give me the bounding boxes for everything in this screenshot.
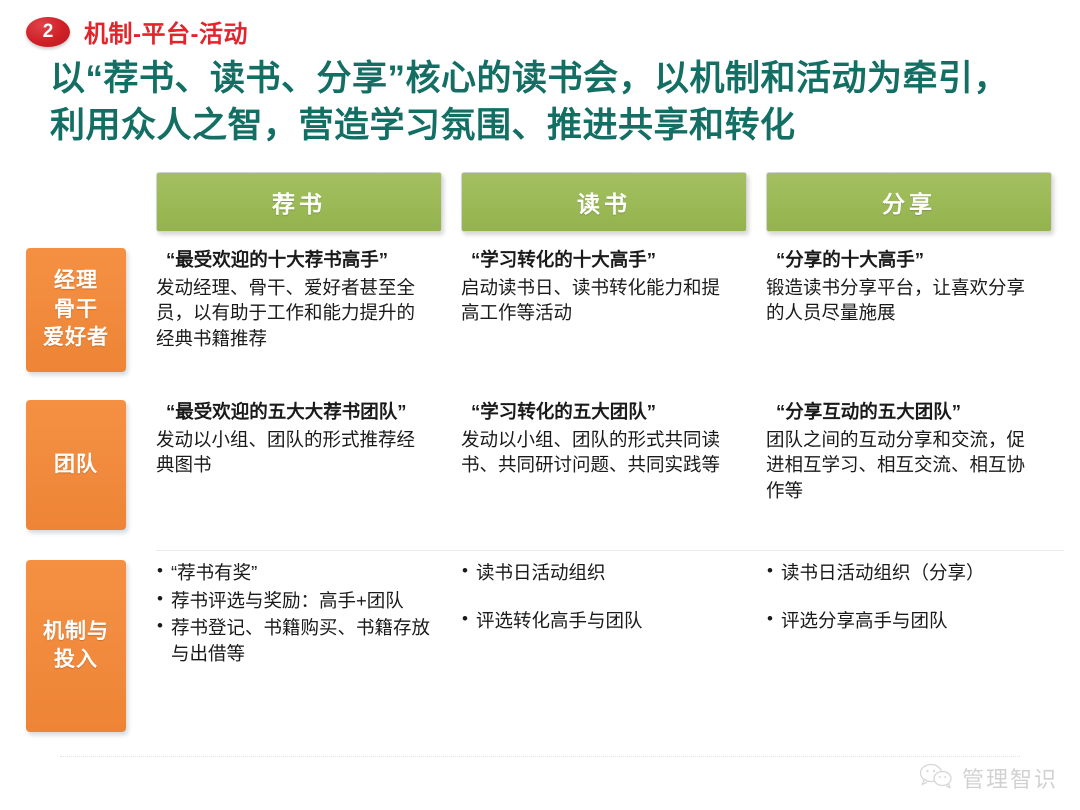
list-item: “荐书有奖”: [156, 560, 430, 586]
list-item: 荐书评选与奖励：高手+团队: [156, 588, 430, 614]
list-item: 读书日活动组织: [461, 560, 735, 586]
watermark: 管理智识: [919, 762, 1058, 794]
cell-managers-recommend: “最受欢迎的十大荐书高手” 发动经理、骨干、爱好者甚至全员，以有助于工作和能力提…: [156, 248, 442, 352]
section-header: 2 机制-平台-活动: [26, 14, 248, 49]
cell-title: “学习转化的五大团队”: [471, 400, 735, 425]
row-divider: [156, 550, 1064, 551]
column-header-share: 分享: [766, 172, 1052, 232]
page-title-line-1: 以“荐书、读书、分享”核心的读书会，以机制和活动为牵引，: [50, 56, 1060, 103]
cell-title: “分享的十大高手”: [776, 248, 1040, 273]
column-header-read: 读书: [461, 172, 747, 232]
footer-divider: [60, 756, 1020, 757]
page-title-line-2: 利用众人之智，营造学习氛围、推进共享和转化: [50, 103, 1060, 150]
cell-team-recommend: “最受欢迎的五大大荐书团队” 发动以小组、团队的形式推荐经典图书: [156, 400, 442, 504]
cell-mechanism-recommend: “荐书有奖” 荐书评选与奖励：高手+团队 荐书登记、书籍购买、书籍存放与出借等: [156, 560, 442, 668]
row-label-line: 骨干: [54, 298, 98, 321]
cell-managers-read: “学习转化的十大高手” 启动读书日、读书转化能力和提高工作等活动: [461, 248, 747, 352]
row-label-team: 团队: [26, 400, 126, 530]
bullet-list: 读书日活动组织 评选转化高手与团队: [461, 560, 735, 633]
matrix-row: 机制与 投入 “荐书有奖” 荐书评选与奖励：高手+团队 荐书登记、书籍购买、书籍…: [0, 560, 1080, 732]
matrix-table: 荐书 读书 分享 经理 骨干 爱好者 “最受欢迎的十大荐书高手” 发动经理、骨干…: [0, 172, 1080, 732]
column-header-recommend: 荐书: [156, 172, 442, 232]
cell-mechanism-read: 读书日活动组织 评选转化高手与团队: [461, 560, 747, 668]
row-label-line: 经理: [54, 269, 98, 292]
cell-body: 发动以小组、团队的形式共同读书、共同研讨问题、共同实践等: [461, 427, 735, 478]
cell-title: “学习转化的十大高手”: [471, 248, 735, 273]
row-label-line: 爱好者: [43, 326, 109, 349]
cell-mechanism-share: 读书日活动组织（分享） 评选分享高手与团队: [766, 560, 1052, 668]
cell-body: 启动读书日、读书转化能力和提高工作等活动: [461, 275, 735, 326]
cell-title: “最受欢迎的五大大荐书团队”: [166, 400, 430, 425]
watermark-label: 管理智识: [962, 762, 1058, 794]
cell-body: 锻造读书分享平台，让喜欢分享的人员尽量施展: [766, 275, 1040, 326]
cell-body: 团队之间的互动分享和交流，促进相互学习、相互交流、相互协作等: [766, 427, 1040, 504]
matrix-row-cells: “最受欢迎的十大荐书高手” 发动经理、骨干、爱好者甚至全员，以有助于工作和能力提…: [156, 248, 1052, 352]
row-label-managers: 经理 骨干 爱好者: [26, 248, 126, 372]
page-title: 以“荐书、读书、分享”核心的读书会，以机制和活动为牵引， 利用众人之智，营造学习…: [50, 56, 1060, 149]
list-item: 评选分享高手与团队: [766, 608, 1040, 634]
matrix-row-cells: “最受欢迎的五大大荐书团队” 发动以小组、团队的形式推荐经典图书 “学习转化的五…: [156, 400, 1052, 504]
matrix-column-headers: 荐书 读书 分享: [0, 172, 1080, 232]
section-number-badge: 2: [26, 17, 70, 47]
bullet-list: 读书日活动组织（分享） 评选分享高手与团队: [766, 560, 1040, 633]
matrix-row: 经理 骨干 爱好者 “最受欢迎的十大荐书高手” 发动经理、骨干、爱好者甚至全员，…: [0, 248, 1080, 372]
section-header-label: 机制-平台-活动: [84, 14, 248, 49]
list-item: 读书日活动组织（分享）: [766, 560, 1040, 586]
matrix-row: 团队 “最受欢迎的五大大荐书团队” 发动以小组、团队的形式推荐经典图书 “学习转…: [0, 400, 1080, 530]
matrix-row-cells: “荐书有奖” 荐书评选与奖励：高手+团队 荐书登记、书籍购买、书籍存放与出借等 …: [156, 560, 1052, 668]
cell-team-share: “分享互动的五大团队” 团队之间的互动分享和交流，促进相互学习、相互交流、相互协…: [766, 400, 1052, 504]
cell-title: “最受欢迎的十大荐书高手”: [166, 248, 430, 273]
list-item: 荐书登记、书籍购买、书籍存放与出借等: [156, 615, 430, 666]
cell-managers-share: “分享的十大高手” 锻造读书分享平台，让喜欢分享的人员尽量施展: [766, 248, 1052, 352]
wechat-icon: [919, 763, 953, 794]
list-item: 评选转化高手与团队: [461, 608, 735, 634]
bullet-list: “荐书有奖” 荐书评选与奖励：高手+团队 荐书登记、书籍购买、书籍存放与出借等: [156, 560, 430, 666]
row-label-mechanism: 机制与 投入: [26, 560, 126, 732]
cell-title: “分享互动的五大团队”: [776, 400, 1040, 425]
row-label-line: 团队: [54, 451, 98, 479]
cell-body: 发动经理、骨干、爱好者甚至全员，以有助于工作和能力提升的经典书籍推荐: [156, 275, 430, 352]
cell-body: 发动以小组、团队的形式推荐经典图书: [156, 427, 430, 478]
row-label-line: 机制与: [43, 620, 109, 643]
row-label-line: 投入: [54, 648, 98, 671]
cell-team-read: “学习转化的五大团队” 发动以小组、团队的形式共同读书、共同研讨问题、共同实践等: [461, 400, 747, 504]
